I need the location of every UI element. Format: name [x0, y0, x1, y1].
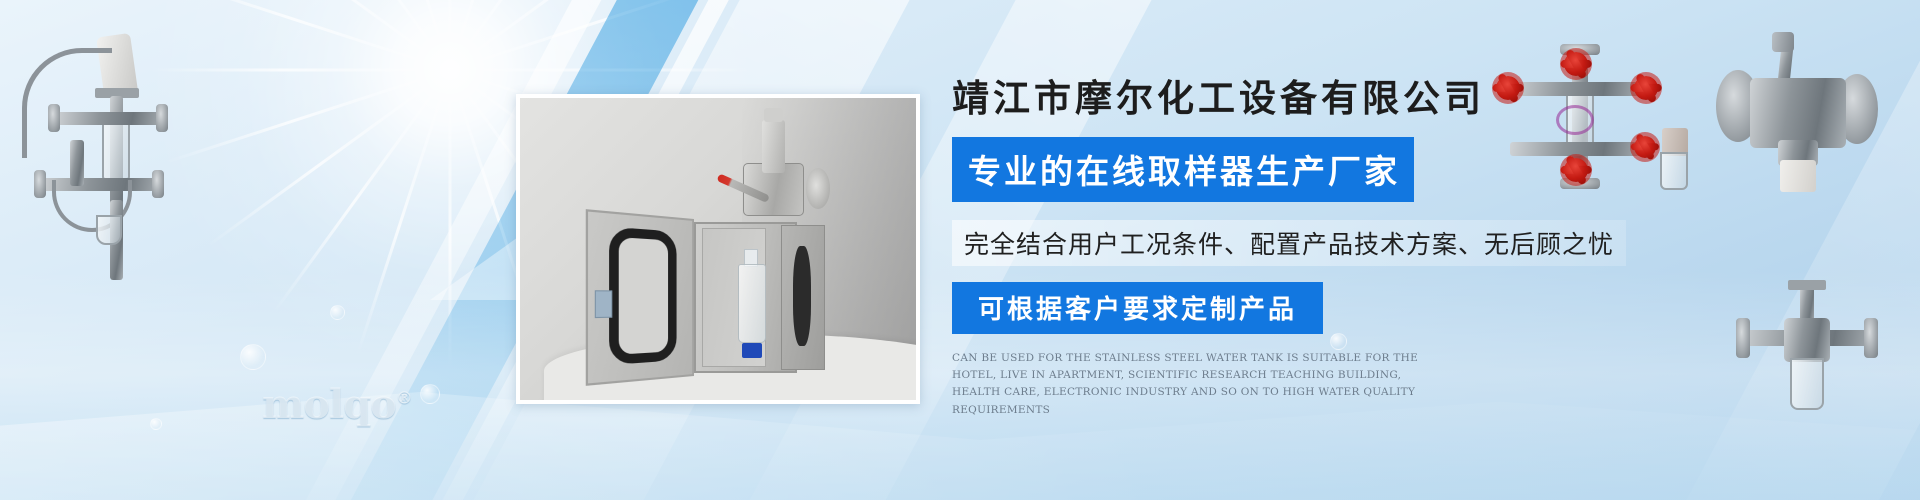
promo-banner: 靖江市摩尔化工设备有限公司 专业的在线取样器生产厂家 完全结合用户工况条件、配置…: [0, 0, 1920, 500]
customization-slogan-badge: 可根据客户要求定制产品: [952, 282, 1323, 334]
english-caption: CAN BE USED FOR THE STAINLESS STEEL WATE…: [952, 350, 1452, 419]
secondary-slogan: 完全结合用户工况条件、配置产品技术方案、无后顾之忧: [952, 220, 1626, 266]
company-name: 靖江市摩尔化工设备有限公司: [952, 78, 1712, 119]
bubble-decor: [240, 344, 266, 370]
bubble-decor: [150, 418, 162, 430]
bubble-decor: [330, 305, 345, 320]
watermark-logo: molqo®: [262, 381, 412, 428]
watermark-text: molqo: [262, 381, 396, 428]
primary-slogan-badge: 专业的在线取样器生产厂家: [952, 137, 1414, 202]
bubble-decor: [420, 384, 440, 404]
registered-mark-icon: ®: [396, 389, 412, 409]
product-photo: [516, 94, 920, 404]
banner-text-column: 靖江市摩尔化工设备有限公司 专业的在线取样器生产厂家 完全结合用户工况条件、配置…: [952, 78, 1712, 419]
